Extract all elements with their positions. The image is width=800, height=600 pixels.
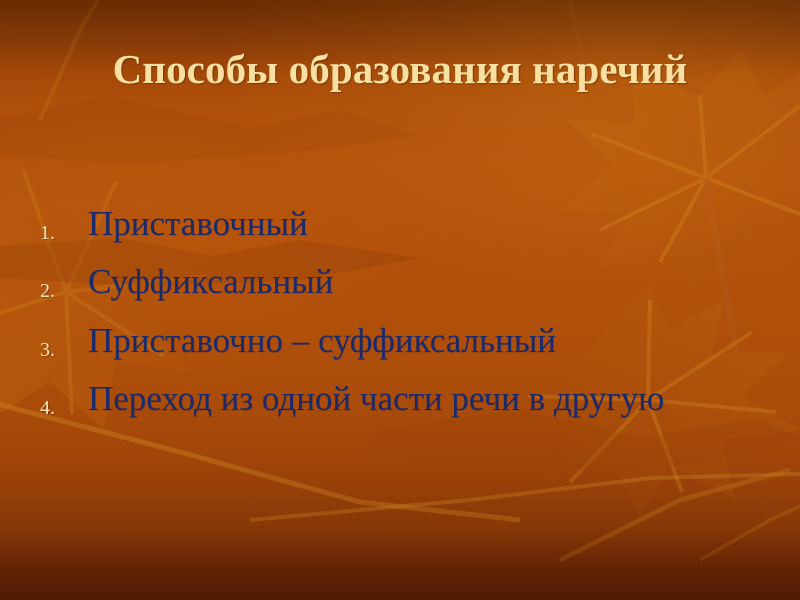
list-item-label: Суффиксальный bbox=[88, 260, 700, 304]
leaf-stem bbox=[570, 0, 614, 230]
list-item[interactable]: 1. Приставочный bbox=[40, 202, 760, 246]
numbered-list: 1. Приставочный 2. Суффиксальный 3. Прис… bbox=[40, 202, 760, 436]
list-item-label: Приставочно – суффиксальный bbox=[88, 319, 700, 363]
list-item-number: 1. bbox=[40, 202, 88, 243]
presentation-slide: Способы образования наречий 1. Приставоч… bbox=[0, 0, 800, 600]
list-item-number: 4. bbox=[40, 377, 88, 418]
list-item[interactable]: 2. Суффиксальный bbox=[40, 260, 760, 304]
list-item-label: Приставочный bbox=[88, 202, 700, 246]
list-item[interactable]: 4. Переход из одной части речи в другую bbox=[40, 377, 760, 421]
slide-title: Способы образования наречий bbox=[0, 47, 800, 93]
list-item[interactable]: 3. Приставочно – суффиксальный bbox=[40, 319, 760, 363]
list-item-label: Переход из одной части речи в другую bbox=[88, 377, 700, 421]
leaf-stem bbox=[250, 474, 800, 520]
leaf-shadow-band bbox=[0, 96, 420, 164]
leaf-stem bbox=[560, 470, 790, 560]
list-item-number: 3. bbox=[40, 319, 88, 360]
leaf-stem bbox=[700, 506, 800, 560]
list-item-number: 2. bbox=[40, 260, 88, 301]
